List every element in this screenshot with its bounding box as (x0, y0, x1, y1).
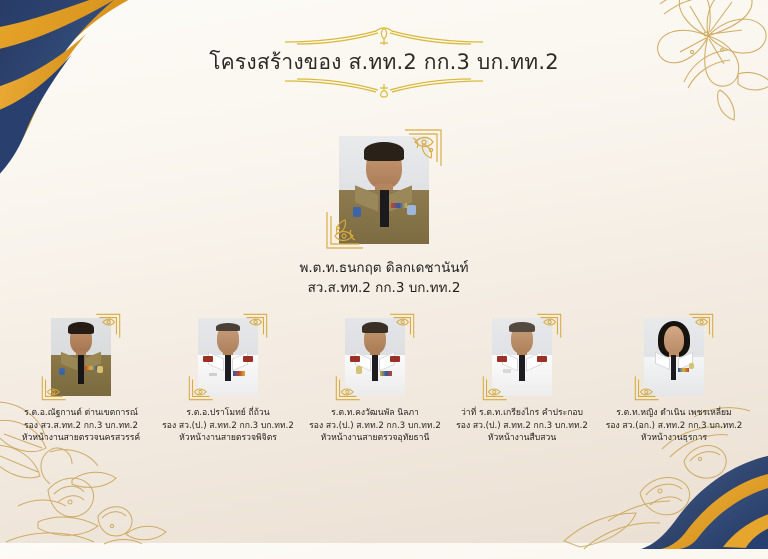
member-card-3: ร.ต.ท.คงวัฒนพัล นิลภา รอง สว.(ป.) ส.ทท.2… (299, 313, 451, 445)
member-card-2: ร.ต.อ.ปราโมทย์ ถี่ถ้วน รอง สว.(ป.) ส.ทท.… (152, 313, 304, 445)
member-1-photo-frame (39, 313, 123, 401)
member-3-photo-frame (333, 313, 417, 401)
member-5-duty: หัวหน้างานธุรการ (598, 432, 750, 445)
head-officer-photo-frame (325, 128, 443, 250)
title-flourish-bottom-icon (281, 76, 487, 98)
member-1-duty: หัวหน้างานสายตรวจนครสวรรค์ (5, 432, 157, 445)
head-officer-labels: พ.ต.ท.ธนกฤต ดิลกเดชานันท์ สว.ส.ทท.2 กก.3… (0, 258, 768, 299)
member-4-position: รอง สว.(ป.) ส.ทท.2 กก.3 บก.ทท.2 (446, 420, 598, 433)
slide-canvas: โครงสร้างของ ส.ทท.2 กก.3 บก.ทท.2 (0, 0, 768, 543)
member-3-name: ร.ต.ท.คงวัฒนพัล นิลภา (299, 407, 451, 420)
head-officer-position: สว.ส.ทท.2 กก.3 บก.ทท.2 (0, 278, 768, 298)
member-5-photo (644, 318, 704, 396)
member-4-name: ว่าที่ ร.ต.ท.เกรียงไกร คำประกอบ (446, 407, 598, 420)
page-title: โครงสร้างของ ส.ทท.2 กก.3 บก.ทท.2 (0, 49, 768, 75)
title-block: โครงสร้างของ ส.ทท.2 กก.3 บก.ทท.2 (0, 26, 768, 98)
member-4-duty: หัวหน้างานสืบสวน (446, 432, 598, 445)
members-row: ร.ต.อ.ณัฐกานต์ ด่านเขตการณ์ รอง สว.ส.ทท.… (0, 313, 768, 473)
member-card-4: ว่าที่ ร.ต.ท.เกรียงไกร คำประกอบ รอง สว.(… (446, 313, 598, 445)
member-5-name: ร.ต.ท.หญิง ดำเนิน เพชรเหลี่ยม (598, 407, 750, 420)
member-5-photo-frame (632, 313, 716, 401)
head-officer-name: พ.ต.ท.ธนกฤต ดิลกเดชานันท์ (0, 258, 768, 278)
member-2-name: ร.ต.อ.ปราโมทย์ ถี่ถ้วน (152, 407, 304, 420)
member-2-duty: หัวหน้างานสายตรวจพิจิตร (152, 432, 304, 445)
member-5-position: รอง สว.(อก.) ส.ทท.2 กก.3 บก.ทท.2 (598, 420, 750, 433)
member-4-photo-frame (480, 313, 564, 401)
member-3-photo (345, 318, 405, 396)
member-1-labels: ร.ต.อ.ณัฐกานต์ ด่านเขตการณ์ รอง สว.ส.ทท.… (5, 407, 157, 445)
member-4-labels: ว่าที่ ร.ต.ท.เกรียงไกร คำประกอบ รอง สว.(… (446, 407, 598, 445)
member-card-1: ร.ต.อ.ณัฐกานต์ ด่านเขตการณ์ รอง สว.ส.ทท.… (5, 313, 157, 445)
member-1-position: รอง สว.ส.ทท.2 กก.3 บก.ทท.2 (5, 420, 157, 433)
member-4-photo (492, 318, 552, 396)
member-2-photo-frame (186, 313, 270, 401)
head-officer-photo (339, 136, 429, 244)
member-3-labels: ร.ต.ท.คงวัฒนพัล นิลภา รอง สว.(ป.) ส.ทท.2… (299, 407, 451, 445)
title-flourish-top-icon (281, 26, 487, 46)
member-2-labels: ร.ต.อ.ปราโมทย์ ถี่ถ้วน รอง สว.(ป.) ส.ทท.… (152, 407, 304, 445)
member-3-duty: หัวหน้างานสายตรวจอุทัยธานี (299, 432, 451, 445)
member-5-labels: ร.ต.ท.หญิง ดำเนิน เพชรเหลี่ยม รอง สว.(อก… (598, 407, 750, 445)
member-3-position: รอง สว.(ป.) ส.ทท.2 กก.3 บก.ทท.2 (299, 420, 451, 433)
member-1-photo (51, 318, 111, 396)
member-2-position: รอง สว.(ป.) ส.ทท.2 กก.3 บก.ทท.2 (152, 420, 304, 433)
member-2-photo (198, 318, 258, 396)
member-card-5: ร.ต.ท.หญิง ดำเนิน เพชรเหลี่ยม รอง สว.(อก… (598, 313, 750, 445)
member-1-name: ร.ต.อ.ณัฐกานต์ ด่านเขตการณ์ (5, 407, 157, 420)
head-officer-block: พ.ต.ท.ธนกฤต ดิลกเดชานันท์ สว.ส.ทท.2 กก.3… (0, 128, 768, 299)
